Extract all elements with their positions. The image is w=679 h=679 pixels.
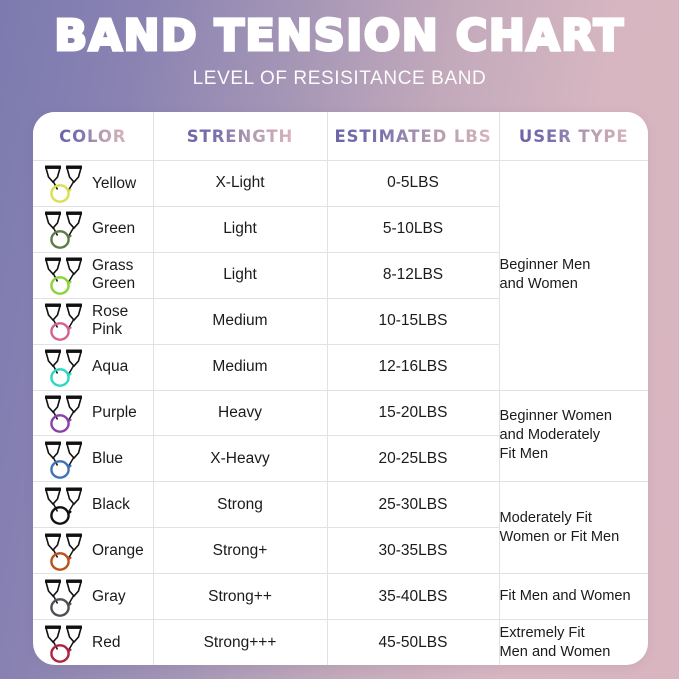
table-row: GrayStrong++35-40LBSFit Men and Women (33, 574, 648, 620)
cell-color: Aqua (33, 344, 153, 390)
cell-strength: Light (153, 206, 327, 252)
resistance-band-icon (42, 162, 88, 204)
column-header-estimated-lbs-label: ESTIMATED LBS (334, 127, 491, 146)
cell-estimated-lbs: 20-25LBS (327, 436, 499, 482)
cell-estimated-lbs: 10-15LBS (327, 298, 499, 344)
cell-user-type: Beginner Menand Women (499, 161, 648, 391)
cell-color: Red (33, 620, 153, 665)
color-cell-content: Red (33, 620, 153, 665)
cell-color: Yellow (33, 161, 153, 207)
cell-strength: X-Light (153, 161, 327, 207)
page-title: BAND TENSION CHART (0, 14, 679, 59)
cell-estimated-lbs: 0-5LBS (327, 161, 499, 207)
cell-color: Blue (33, 436, 153, 482)
cell-strength: Strong+ (153, 528, 327, 574)
cell-estimated-lbs: 12-16LBS (327, 344, 499, 390)
cell-strength: X-Heavy (153, 436, 327, 482)
cell-user-type: Beginner Womenand ModeratelyFit Men (499, 390, 648, 482)
resistance-band-icon (42, 300, 88, 342)
resistance-band-icon (42, 622, 88, 664)
cell-color: Green (33, 206, 153, 252)
cell-user-type: Extremely FitMen and Women (499, 620, 648, 665)
resistance-band-icon (42, 576, 88, 618)
color-cell-content: Black (33, 482, 153, 527)
cell-estimated-lbs: 35-40LBS (327, 574, 499, 620)
cell-estimated-lbs: 8-12LBS (327, 252, 499, 298)
column-header-strength: STRENGTH (153, 112, 327, 161)
cell-estimated-lbs: 25-30LBS (327, 482, 499, 528)
color-cell-content: Blue (33, 436, 153, 481)
color-cell-content: Yellow (33, 161, 153, 206)
resistance-band-icon (42, 392, 88, 434)
column-header-color-label: COLOR (59, 127, 126, 146)
resistance-band-icon (42, 346, 88, 388)
color-cell-content: RosePink (33, 299, 153, 344)
color-name-label: Yellow (92, 175, 136, 193)
table-body: YellowX-Light0-5LBSBeginner Menand Women… (33, 161, 648, 666)
resistance-band-icon (42, 438, 88, 480)
cell-color: GrassGreen (33, 252, 153, 298)
color-cell-content: Aqua (33, 345, 153, 390)
color-name-label: GrassGreen (92, 257, 135, 293)
color-cell-content: Green (33, 207, 153, 252)
color-name-label: Red (92, 634, 120, 652)
cell-estimated-lbs: 45-50LBS (327, 620, 499, 665)
resistance-band-icon (42, 530, 88, 572)
color-cell-content: Purple (33, 391, 153, 436)
column-header-strength-label: STRENGTH (187, 127, 293, 146)
cell-user-type: Fit Men and Women (499, 574, 648, 620)
column-header-estimated-lbs: ESTIMATED LBS (327, 112, 499, 161)
cell-strength: Strong++ (153, 574, 327, 620)
cell-strength: Light (153, 252, 327, 298)
band-tension-table: COLOR STRENGTH ESTIMATED LBS USER TYPE Y… (33, 112, 648, 665)
cell-strength: Medium (153, 298, 327, 344)
table-header: COLOR STRENGTH ESTIMATED LBS USER TYPE (33, 112, 648, 161)
table-row: YellowX-Light0-5LBSBeginner Menand Women (33, 161, 648, 207)
page-subtitle: LEVEL OF RESISITANCE BAND (0, 68, 679, 90)
table-row: RedStrong+++45-50LBSExtremely FitMen and… (33, 620, 648, 665)
cell-user-type: Moderately FitWomen or Fit Men (499, 482, 648, 574)
cell-color: Purple (33, 390, 153, 436)
chart-card: COLOR STRENGTH ESTIMATED LBS USER TYPE Y… (33, 112, 648, 665)
title-block: BAND TENSION CHART LEVEL OF RESISITANCE … (0, 14, 679, 90)
resistance-band-icon (42, 208, 88, 250)
resistance-band-icon (42, 484, 88, 526)
table-header-row: COLOR STRENGTH ESTIMATED LBS USER TYPE (33, 112, 648, 161)
color-name-label: Green (92, 220, 135, 238)
column-header-color: COLOR (33, 112, 153, 161)
cell-strength: Heavy (153, 390, 327, 436)
cell-color: RosePink (33, 298, 153, 344)
color-name-label: Aqua (92, 358, 128, 376)
color-name-label: Black (92, 496, 130, 514)
color-name-label: RosePink (92, 303, 128, 339)
cell-estimated-lbs: 5-10LBS (327, 206, 499, 252)
cell-color: Gray (33, 574, 153, 620)
cell-strength: Strong+++ (153, 620, 327, 665)
color-cell-content: Gray (33, 574, 153, 619)
color-cell-content: Orange (33, 528, 153, 573)
column-header-user-type: USER TYPE (499, 112, 648, 161)
resistance-band-icon (42, 254, 88, 296)
color-name-label: Gray (92, 588, 126, 606)
color-name-label: Orange (92, 542, 144, 560)
table-row: BlackStrong25-30LBSModerately FitWomen o… (33, 482, 648, 528)
column-header-user-type-label: USER TYPE (519, 127, 629, 146)
cell-color: Orange (33, 528, 153, 574)
color-name-label: Purple (92, 404, 137, 422)
cell-estimated-lbs: 15-20LBS (327, 390, 499, 436)
cell-strength: Medium (153, 344, 327, 390)
cell-strength: Strong (153, 482, 327, 528)
cell-estimated-lbs: 30-35LBS (327, 528, 499, 574)
band-tension-chart-page: BAND TENSION CHART LEVEL OF RESISITANCE … (0, 0, 679, 679)
cell-color: Black (33, 482, 153, 528)
color-cell-content: GrassGreen (33, 253, 153, 298)
color-name-label: Blue (92, 450, 123, 468)
table-row: PurpleHeavy15-20LBSBeginner Womenand Mod… (33, 390, 648, 436)
